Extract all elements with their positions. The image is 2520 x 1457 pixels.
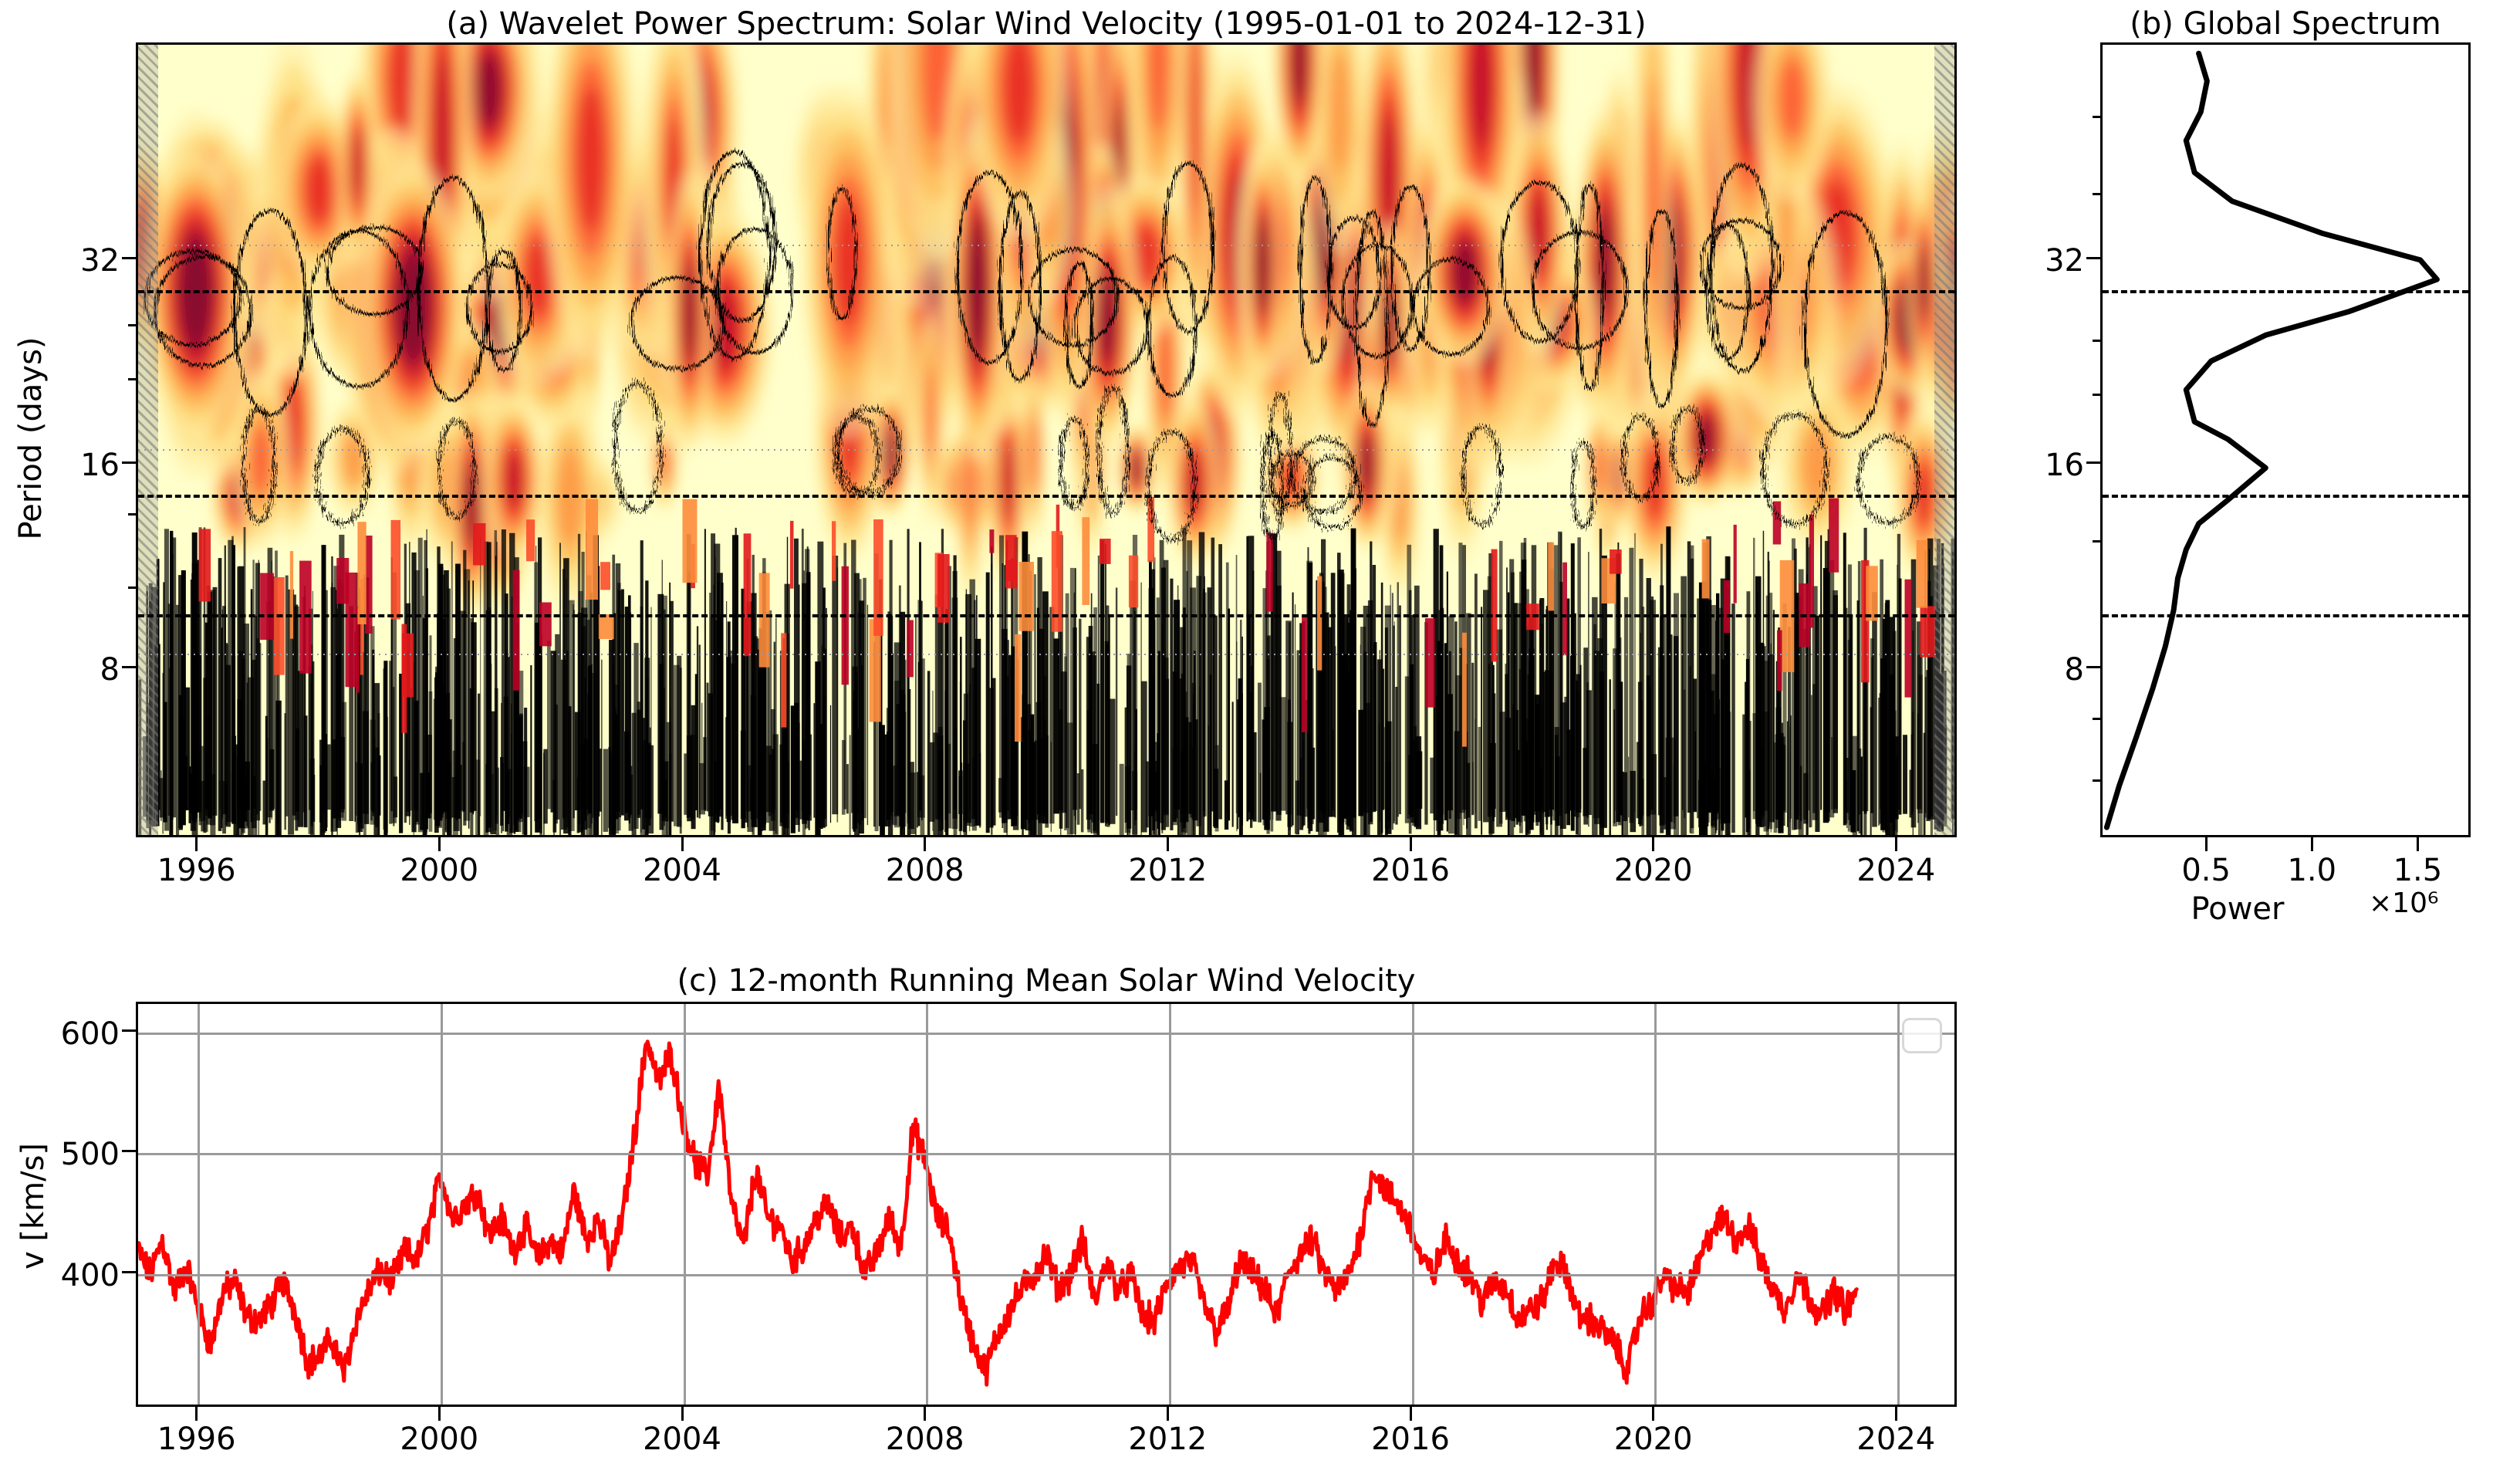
panel-a-x-tick-2020: [1652, 837, 1654, 851]
panel-c-ytick-mark-600: [122, 1029, 136, 1032]
panel-c-vgridline-2008: [926, 1004, 928, 1405]
panel-a-ytick-minor-3: [128, 513, 136, 516]
panel-c-ytick-mark-500: [122, 1150, 136, 1152]
panel-a-plot-area[interactable]: [136, 42, 1957, 837]
panel-b-ytick-minor-3: [2093, 340, 2100, 342]
wavelet-figure: (a) Wavelet Power Spectrum: Solar Wind V…: [0, 0, 2520, 1452]
panel-b-x-label-1.5: 1.5: [2356, 853, 2479, 888]
panel-a-ytick-minor-2: [128, 378, 136, 380]
panel-b-reference-9d: [2103, 614, 2468, 617]
panel-c-x-tick-2016: [1410, 1407, 1412, 1421]
panel-a-ylabel: Period (days): [13, 323, 49, 554]
panel-b-ytick-minor-5: [2093, 540, 2100, 543]
panel-c-vgridline-2012: [1169, 1004, 1171, 1405]
panel-c-x-tick-1996: [195, 1407, 198, 1421]
panel-a-x-tick-1996: [195, 837, 198, 851]
panel-a-x-label-2004: 2004: [613, 853, 752, 888]
panel-b-plot-area[interactable]: [2100, 42, 2471, 837]
panel-c-legend[interactable]: [1902, 1018, 1942, 1053]
panel-b-x-tick-1.0: [2311, 837, 2313, 851]
panel-c-x-tick-2024: [1895, 1407, 1897, 1421]
panel-a-x-tick-2012: [1167, 837, 1169, 851]
panel-c-vgridline-2004: [684, 1004, 686, 1405]
panel-c-gridline-500: [138, 1153, 1954, 1155]
cone-of-influence-left: [138, 45, 158, 835]
panel-c-vgridline-2016: [1412, 1004, 1414, 1405]
panel-b-x-label-0.5: 0.5: [2144, 853, 2268, 888]
panel-b-ytick-minor-7: [2093, 779, 2100, 782]
panel-a-x-tick-2016: [1410, 837, 1412, 851]
panel-c-ytick-500: 500: [46, 1137, 120, 1172]
panel-a-ytick-mark-32: [122, 257, 136, 259]
global-spectrum-curve: [2103, 45, 2468, 835]
panel-a-x-tick-2004: [681, 837, 684, 851]
panel-b-ytick-8: 8: [2056, 652, 2084, 688]
panel-b-reference-27d: [2103, 290, 2468, 293]
panel-b-title: (b) Global Spectrum: [2100, 6, 2471, 42]
panel-c-x-tick-2020: [1652, 1407, 1654, 1421]
panel-c-vgridline-1996: [198, 1004, 200, 1405]
panel-a-ytick-mark-16: [122, 461, 136, 464]
panel-b-reference-13p5d: [2103, 495, 2468, 498]
panel-a-ytick-mark-8: [122, 666, 136, 668]
panel-a-x-label-2016: 2016: [1341, 853, 1480, 888]
panel-b-ytick-mark-16: [2086, 461, 2100, 464]
panel-c-x-label-2020: 2020: [1584, 1422, 1723, 1457]
reference-period-13p5d: [138, 495, 1954, 498]
panel-a-ytick-16: 16: [77, 448, 120, 483]
panel-a-ytick-minor-4: [128, 587, 136, 589]
panel-a-ytick-32: 32: [77, 243, 120, 279]
wavelet-power-heatmap: [138, 45, 1954, 835]
panel-a-title: (a) Wavelet Power Spectrum: Solar Wind V…: [136, 6, 1957, 42]
panel-c-x-label-2012: 2012: [1098, 1422, 1237, 1457]
panel-a-x-label-2020: 2020: [1584, 853, 1723, 888]
panel-c-vgridline-2024: [1897, 1004, 1900, 1405]
panel-c-x-label-2004: 2004: [613, 1422, 752, 1457]
panel-c-gridline-400: [138, 1274, 1954, 1276]
panel-b-x-tick-0.5: [2205, 837, 2208, 851]
panel-c-x-label-1996: 1996: [127, 1422, 266, 1457]
panel-c-x-tick-2008: [924, 1407, 926, 1421]
solar-wind-velocity-series: [138, 1004, 1954, 1405]
panel-a-x-tick-2000: [438, 837, 441, 851]
panel-a-x-label-1996: 1996: [127, 853, 266, 888]
panel-b-ytick-minor-2: [2093, 193, 2100, 195]
panel-b-x-tick-1.5: [2417, 837, 2419, 851]
panel-c-ytick-400: 400: [46, 1258, 120, 1293]
panel-c-vgridline-2000: [441, 1004, 443, 1405]
panel-a-x-label-2024: 2024: [1826, 853, 1965, 888]
panel-a-ytick-minor-1: [128, 324, 136, 326]
panel-b-ytick-minor-4: [2093, 394, 2100, 396]
cone-of-influence-right: [1934, 45, 1954, 835]
panel-b-x-label-1.0: 1.0: [2250, 853, 2373, 888]
panel-c-ytick-mark-400: [122, 1271, 136, 1273]
panel-b-ytick-minor-6: [2093, 718, 2100, 720]
panel-c-vgridline-2020: [1654, 1004, 1657, 1405]
panel-c-x-label-2000: 2000: [370, 1422, 508, 1457]
panel-b-exponent-label: ×10⁶: [2369, 887, 2508, 919]
panel-a-ytick-8: 8: [91, 652, 120, 688]
panel-c-x-tick-2012: [1167, 1407, 1169, 1421]
reference-period-9d: [138, 614, 1954, 617]
panel-c-x-label-2016: 2016: [1341, 1422, 1480, 1457]
panel-b-xlabel: Power: [2153, 891, 2322, 927]
panel-b-ytick-mark-8: [2086, 666, 2100, 668]
panel-c-plot-area[interactable]: [136, 1002, 1957, 1407]
panel-b-ytick-32: 32: [2042, 243, 2084, 279]
panel-b-ytick-mark-32: [2086, 257, 2100, 259]
panel-a-x-tick-2008: [924, 837, 926, 851]
panel-c-ytick-600: 600: [46, 1016, 120, 1052]
panel-b-ytick-16: 16: [2042, 448, 2084, 483]
panel-a-x-label-2012: 2012: [1098, 853, 1237, 888]
reference-period-27d: [138, 290, 1954, 293]
panel-b-ytick-minor-1: [2093, 116, 2100, 118]
panel-c-x-label-2008: 2008: [856, 1422, 995, 1457]
panel-c-gridline-600: [138, 1033, 1954, 1035]
panel-a-x-label-2000: 2000: [370, 853, 508, 888]
panel-a-x-tick-2024: [1895, 837, 1897, 851]
panel-c-title: (c) 12-month Running Mean Solar Wind Vel…: [136, 963, 1957, 999]
panel-a-x-label-2008: 2008: [856, 853, 995, 888]
panel-c-x-label-2024: 2024: [1826, 1422, 1965, 1457]
panel-c-x-tick-2000: [438, 1407, 441, 1421]
panel-c-x-tick-2004: [681, 1407, 684, 1421]
